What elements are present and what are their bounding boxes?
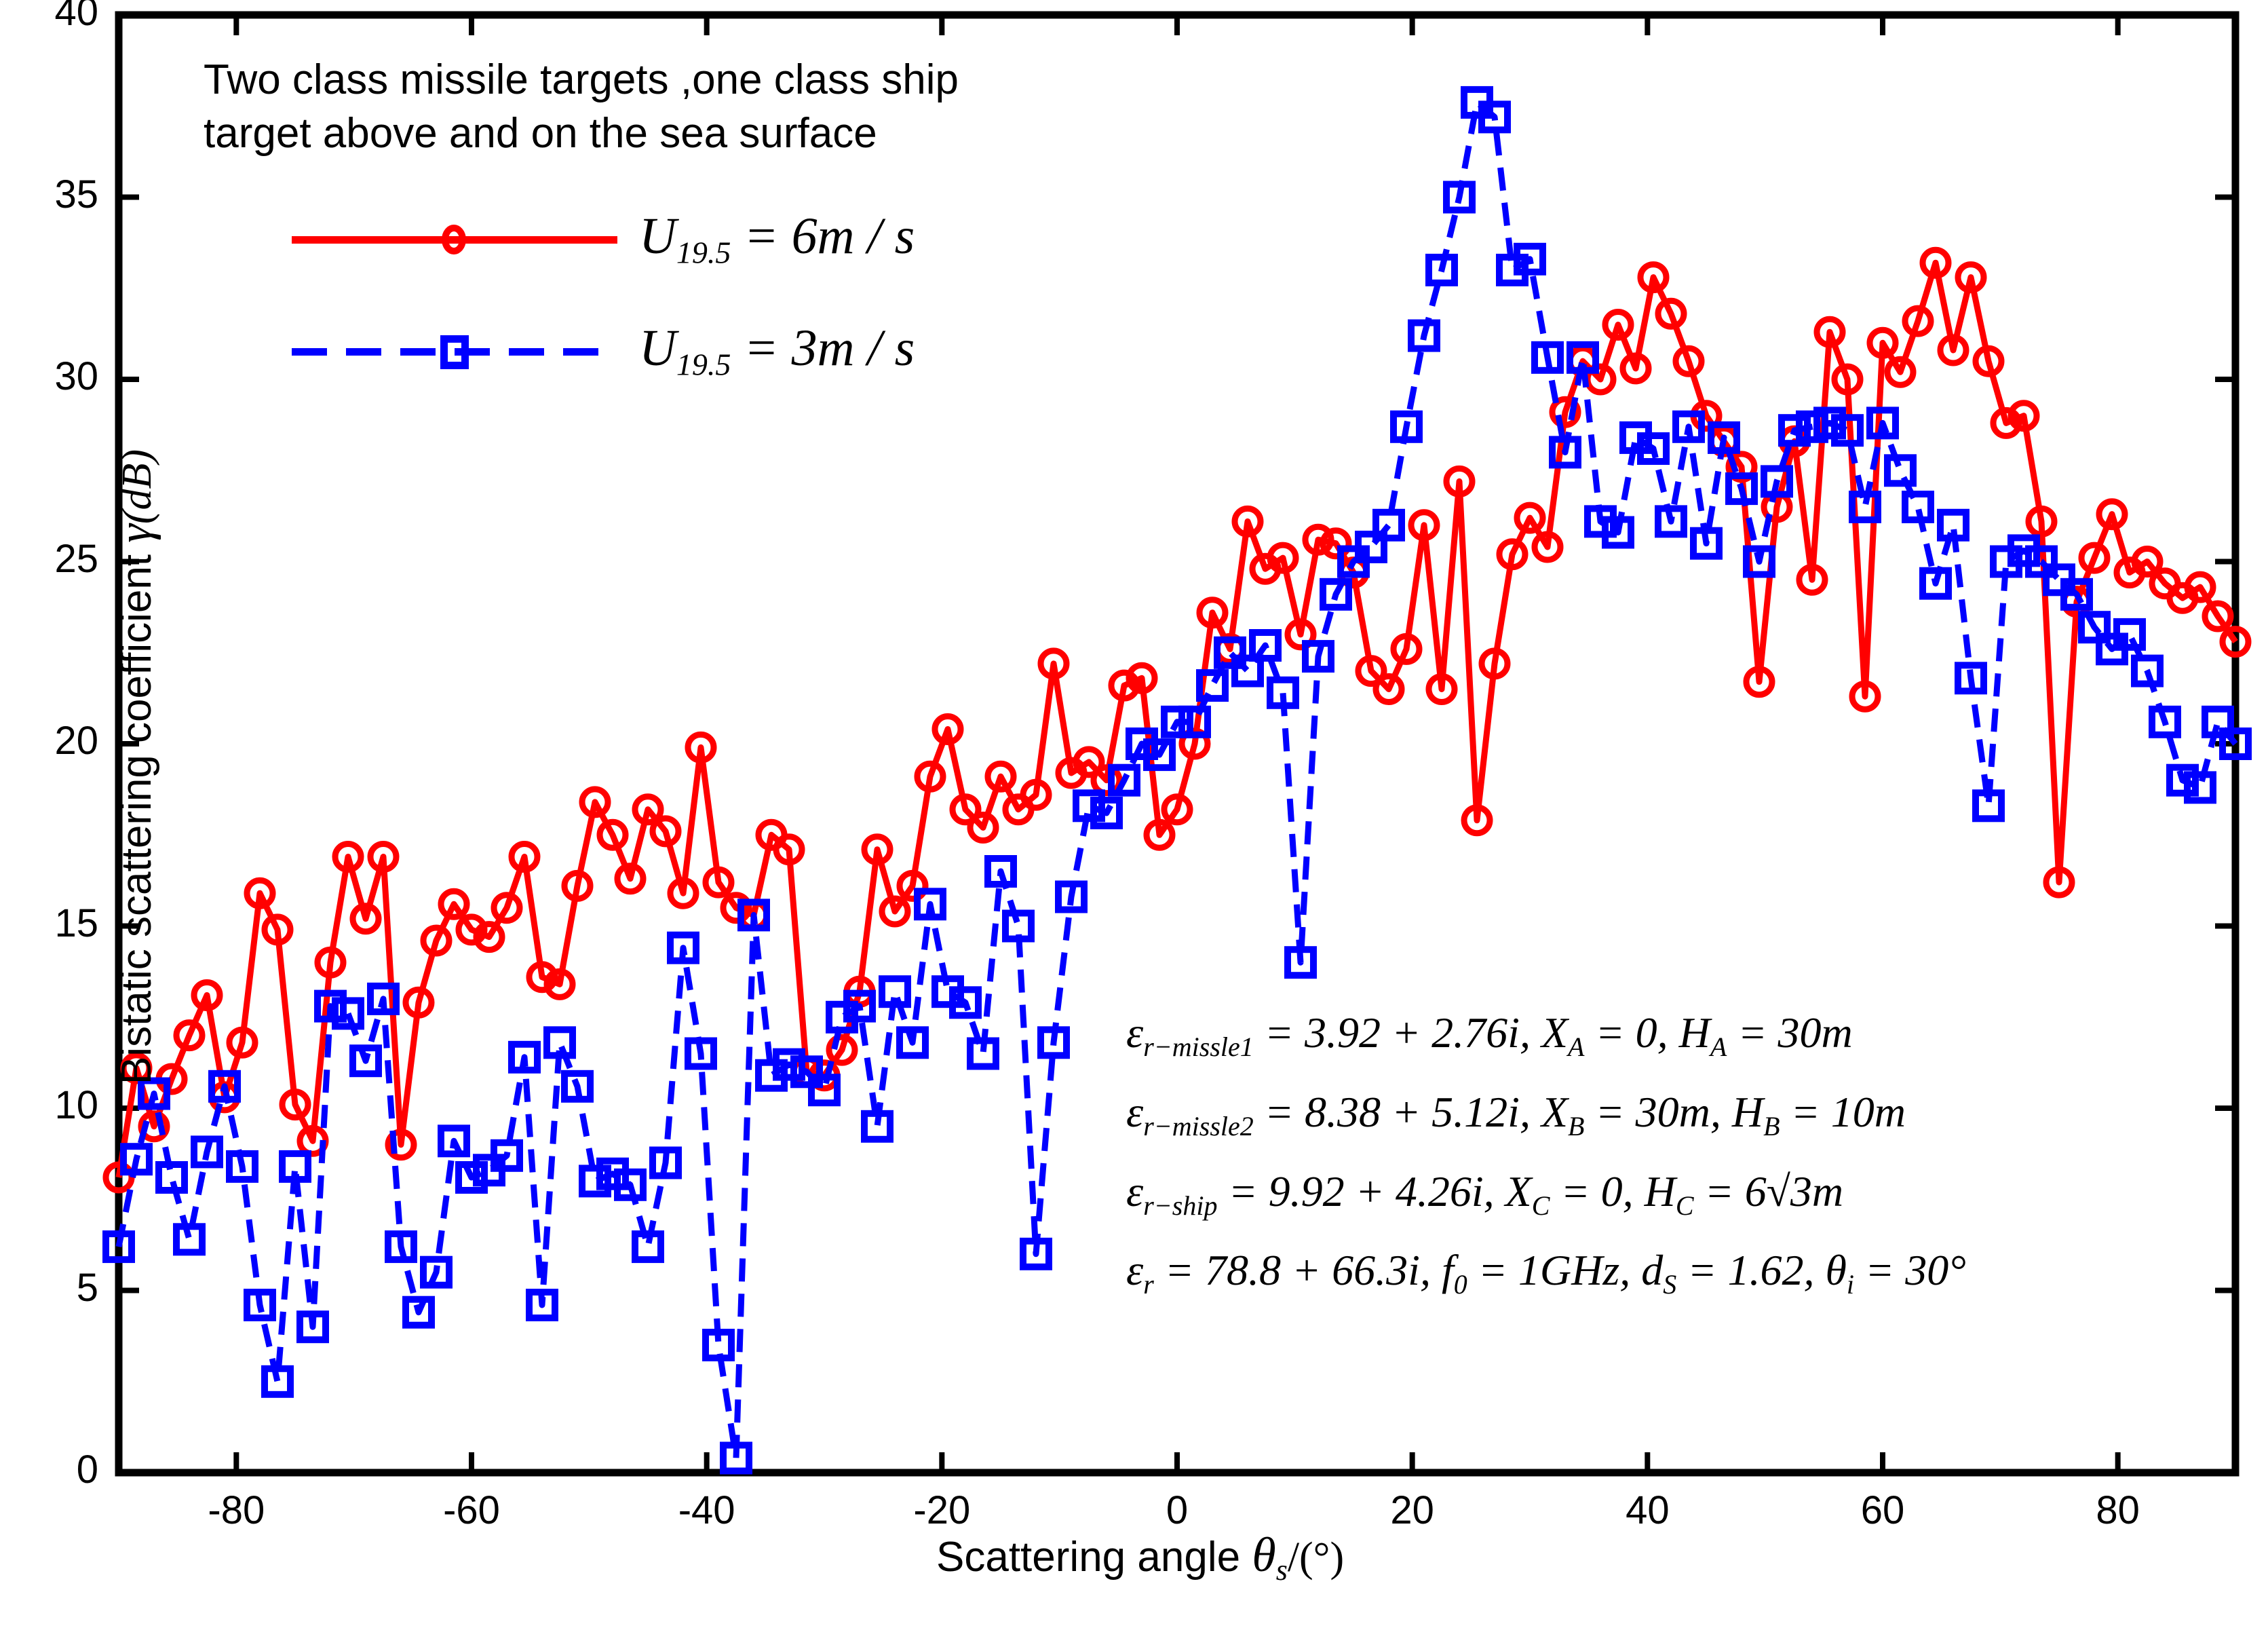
legend-sample-red: [292, 215, 617, 263]
eq4-sub2: 0: [1454, 1269, 1467, 1300]
eq4-sub4: i: [1847, 1269, 1854, 1300]
eq4-t2: = 1GHz, d: [1467, 1246, 1664, 1294]
x-tick-label: 0: [1116, 1488, 1238, 1533]
legend-entry-blue[interactable]: U19.5 = 3m / s: [292, 319, 915, 383]
legend-entry-red[interactable]: U19.5 = 6m / s: [292, 207, 915, 271]
eq2-sub: r−missle2: [1143, 1111, 1254, 1141]
legend-blue-sub: 19.5: [676, 347, 731, 382]
square-marker-icon: [440, 335, 469, 369]
x-axis-title-unit: /(°): [1288, 1534, 1344, 1581]
eq4-sub: r: [1143, 1269, 1154, 1300]
eq3-sym: ε: [1126, 1167, 1143, 1215]
legend-label-red: U19.5 = 6m / s: [639, 207, 915, 271]
x-tick-label: 40: [1586, 1488, 1708, 1533]
y-tick-label: 35: [0, 172, 98, 217]
eq2-sub2: B: [1568, 1111, 1584, 1141]
x-tick-label: 80: [2057, 1488, 2179, 1533]
eq3-sub2: C: [1532, 1190, 1550, 1220]
x-tick-label: 20: [1351, 1488, 1474, 1533]
y-tick-label: 40: [0, 0, 98, 35]
y-axis-title-unit: (dB): [114, 449, 160, 524]
legend-blue-sym: U: [639, 320, 676, 377]
data-point: [335, 1000, 361, 1026]
eq3-t2: = 0, H: [1550, 1167, 1675, 1215]
eq4-t1: = 78.8 + 66.3i, f: [1154, 1246, 1454, 1294]
eq1-t2: = 0, H: [1584, 1008, 1710, 1057]
figure-root: Two class missile targets ,one class shi…: [0, 0, 2268, 1626]
x-axis-title-main: Scattering angle: [936, 1534, 1240, 1581]
equation-missile2: εr−missle2 = 8.38 + 5.12i, XB = 30m, HB …: [1126, 1091, 2239, 1140]
y-tick-label: 15: [0, 901, 98, 946]
parameter-equations: εr−missle1 = 3.92 + 2.76i, XA = 0, HA = …: [1126, 1011, 2239, 1328]
eq3-t1: = 9.92 + 4.26i, X: [1217, 1167, 1531, 1215]
equation-sea: εr = 78.8 + 66.3i, f0 = 1GHz, dS = 1.62,…: [1126, 1249, 2239, 1298]
x-axis-title: Scattering angle θs/(°): [936, 1527, 1344, 1587]
eq3-sub3: C: [1676, 1190, 1694, 1220]
x-tick-label: -60: [410, 1488, 533, 1533]
eq2-t3: = 10m: [1780, 1088, 1906, 1136]
data-point: [582, 1168, 608, 1194]
eq1-t3: = 30m: [1727, 1008, 1852, 1057]
legend-sample-blue: [292, 327, 617, 375]
y-axis-title: Bistatic scattering coefficient γ(dB): [109, 319, 163, 1215]
x-tick-label: -80: [175, 1488, 297, 1533]
eq1-sub2: A: [1568, 1032, 1584, 1062]
y-tick-label: 5: [0, 1265, 98, 1310]
eq4-sym: ε: [1126, 1246, 1143, 1294]
eq1-sub: r−missle1: [1143, 1032, 1254, 1062]
eq3-t3: = 6√3m: [1694, 1167, 1844, 1215]
circle-marker-icon: [442, 225, 466, 254]
legend-title: Two class missile targets ,one class shi…: [204, 53, 1085, 161]
eq2-sub3: B: [1763, 1111, 1780, 1141]
legend-label-blue: U19.5 = 3m / s: [639, 319, 915, 383]
equation-missile1: εr−missle1 = 3.92 + 2.76i, XA = 0, HA = …: [1126, 1011, 2239, 1061]
x-tick-label: -40: [646, 1488, 768, 1533]
x-tick-label: 60: [1822, 1488, 1944, 1533]
eq3-sub: r−ship: [1143, 1190, 1217, 1220]
eq1-sub3: A: [1710, 1032, 1727, 1062]
x-axis-title-symbol: θ: [1252, 1528, 1275, 1582]
y-tick-label: 10: [0, 1082, 98, 1128]
y-tick-label: 20: [0, 718, 98, 763]
equation-ship: εr−ship = 9.92 + 4.26i, XC = 0, HC = 6√3…: [1126, 1170, 2239, 1219]
eq2-sym: ε: [1126, 1088, 1143, 1136]
eq4-sub3: S: [1663, 1269, 1676, 1300]
data-point: [1887, 457, 1913, 483]
legend-blue-rest: = 3m / s: [731, 320, 915, 377]
x-tick-label: -20: [881, 1488, 1003, 1533]
y-tick-label: 30: [0, 354, 98, 399]
y-tick-label: 25: [0, 536, 98, 582]
legend-red-sub: 19.5: [676, 235, 731, 270]
legend-red-sym: U: [639, 208, 676, 265]
eq1-sym: ε: [1126, 1008, 1143, 1057]
eq4-t3: = 1.62, θ: [1676, 1246, 1847, 1294]
eq1-t1: = 3.92 + 2.76i, X: [1254, 1008, 1568, 1057]
y-tick-label: 0: [0, 1447, 98, 1492]
eq2-t1: = 8.38 + 5.12i, X: [1254, 1088, 1568, 1136]
legend-red-rest: = 6m / s: [731, 208, 915, 265]
y-axis-title-main: Bistatic scattering coefficient: [113, 554, 160, 1084]
x-axis-title-sub: s: [1276, 1553, 1288, 1587]
eq2-t2: = 30m, H: [1584, 1088, 1763, 1136]
eq4-t4: = 30°: [1854, 1246, 1966, 1294]
y-axis-title-symbol: γ: [109, 524, 161, 543]
